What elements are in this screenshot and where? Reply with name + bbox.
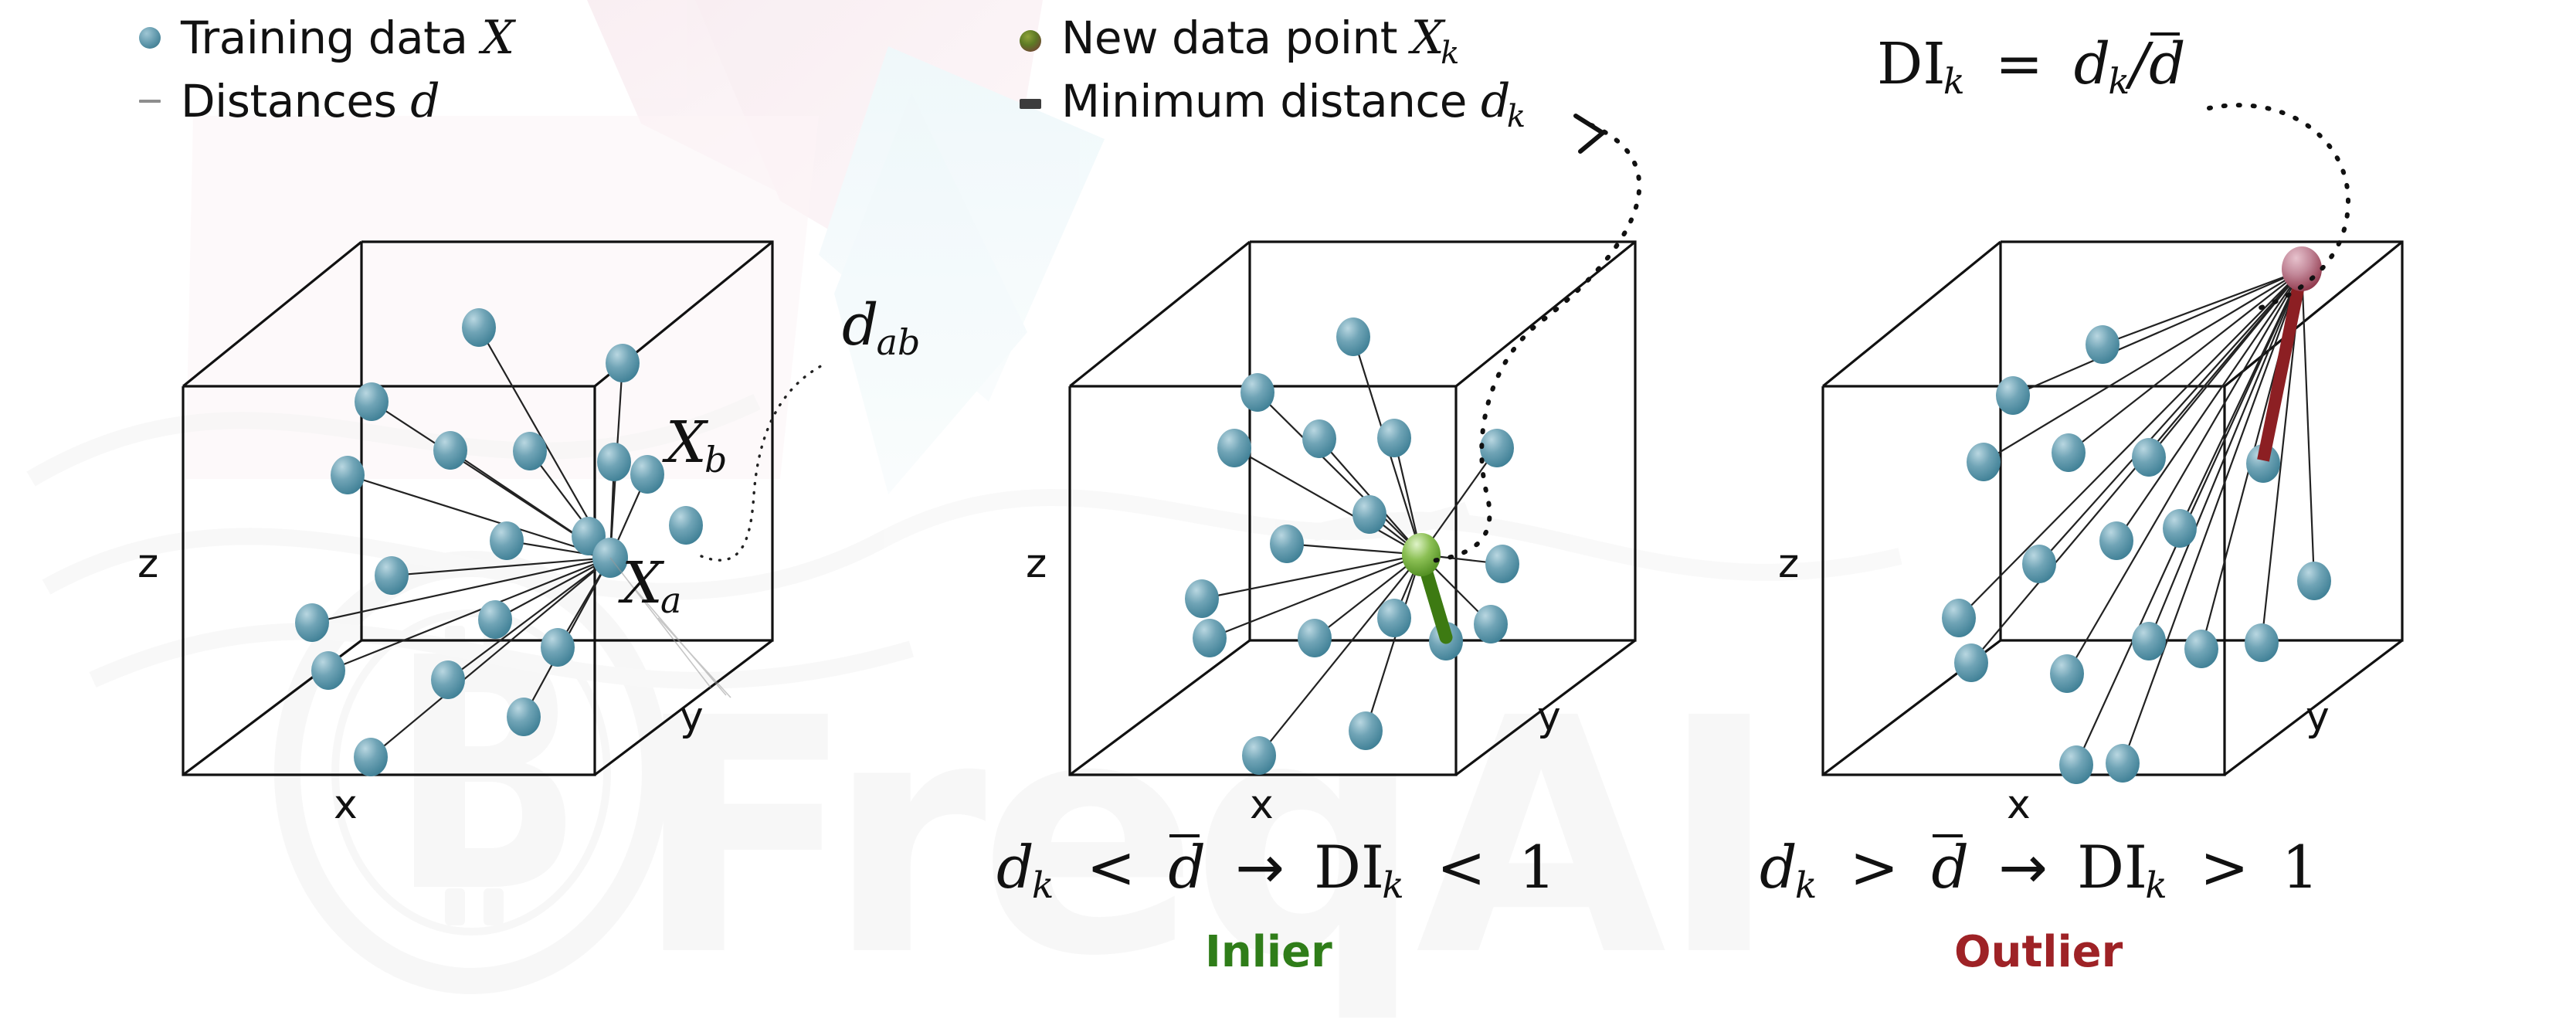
panel-outlier-cube [1823,105,2402,784]
caption-outlier-formula: dk > d → DIk > 1 [1760,833,2319,907]
callout-dk-arrowhead [1576,116,1603,151]
verdict-inlier: Inlier [1205,927,1332,977]
distance-lines-3 [1959,270,2314,765]
caption-inlier-formula: dk < d → DIk < 1 [996,833,1556,907]
axis-label-y-panel3: y [2306,694,2330,740]
label-xa: Xa [622,550,681,621]
axis-label-x-panel1: x [334,782,358,828]
axis-label-y-panel1: y [680,694,704,740]
point-xb-marker [669,506,703,545]
axis-label-z-panel3: z [1778,541,1799,587]
axis-label-x-panel2: x [1250,782,1274,828]
label-xb: Xb [666,409,727,480]
axis-label-x-panel3: x [2007,782,2031,828]
verdict-outlier: Outlier [1954,927,2123,977]
panel-inlier-cube [1070,116,1639,775]
axis-label-z-panel1: z [137,541,158,587]
axis-label-y-panel2: y [1537,694,1561,740]
panel-training-cube [183,242,826,776]
diagram-root: FreqAI Training data X Distances d New d… [0,0,2576,1022]
training-points-1 [295,308,703,776]
axis-label-z-panel2: z [1026,541,1047,587]
new-data-point-inlier [1402,533,1441,576]
label-dab: dab [842,292,920,363]
